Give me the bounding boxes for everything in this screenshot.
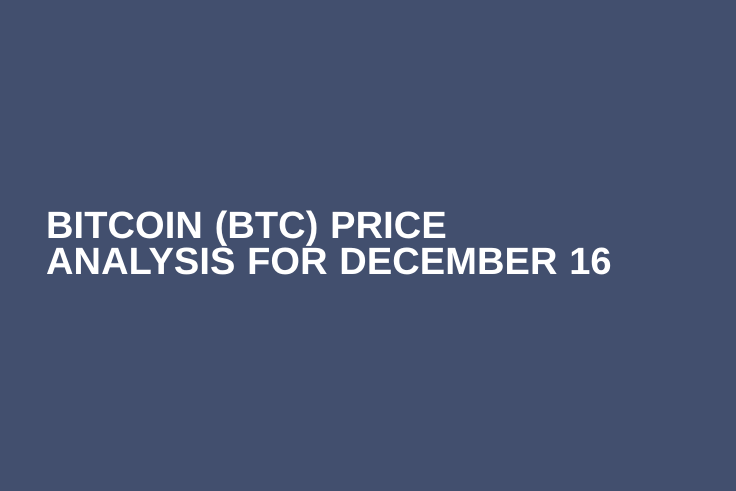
article-hero-banner: Bitcoin (BTC) Price Analysis for Decembe… [0,0,736,491]
title-block: Bitcoin (BTC) Price Analysis for Decembe… [0,208,736,280]
page-title: Bitcoin (BTC) Price Analysis for Decembe… [46,208,612,280]
banner-content-wrapper: Bitcoin (BTC) Price Analysis for Decembe… [0,0,736,491]
